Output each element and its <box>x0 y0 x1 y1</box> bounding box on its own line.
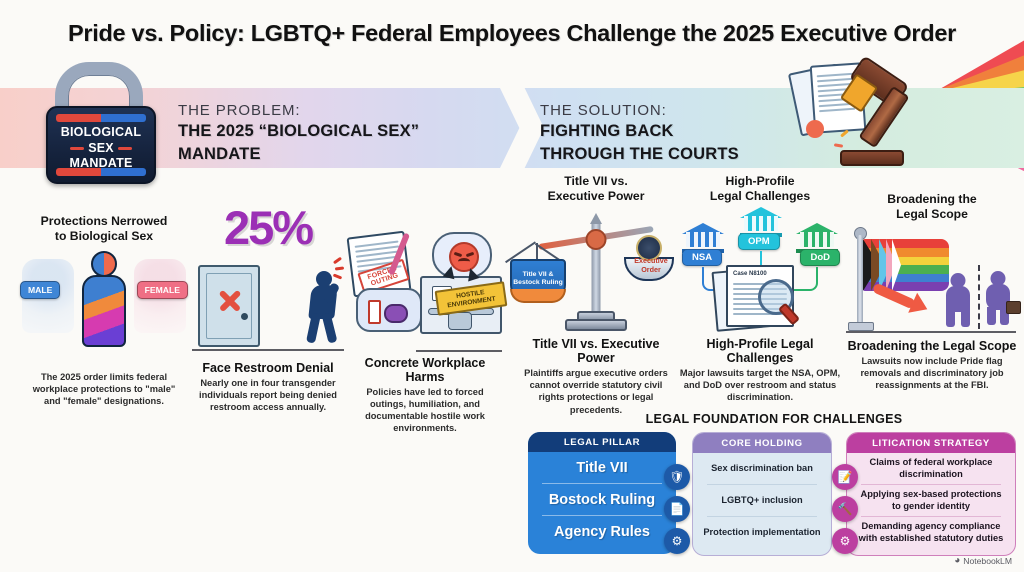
lock-stripe-top <box>56 114 146 122</box>
table-row: Bostock Ruling <box>528 484 676 515</box>
pride-flag-workplace-artwork <box>846 225 1018 335</box>
pig-icon <box>384 304 408 323</box>
leg-right <box>961 309 970 327</box>
agencies-lawsuits-artwork: NSA OPM DoD Case N8100 <box>676 207 844 333</box>
scale-finial <box>590 213 602 224</box>
door-icon <box>198 265 260 347</box>
gavel-icon: 🔨 <box>832 496 858 522</box>
person-body <box>82 275 126 347</box>
lock-label-line1: BIOLOGICAL <box>48 125 154 141</box>
col2-caption: Nearly one in four transgender individua… <box>192 377 344 413</box>
exclamation-card-icon <box>368 300 381 324</box>
eo-line2: Order <box>628 266 674 274</box>
table-column-legal-pillar: LEGAL PILLAR Title VII Bostock Ruling Ag… <box>528 432 676 554</box>
scale-base-bottom <box>565 319 627 331</box>
col3-caption: Policies have led to forced outings, hum… <box>344 386 506 434</box>
core-holding-header: CORE HOLDING <box>693 433 831 453</box>
column-restroom-denial: 25% Face Restroom Denial Nearly one in f… <box>192 204 344 413</box>
briefcase-icon <box>1006 301 1021 314</box>
person-leg-b <box>322 312 338 343</box>
scale-pivot <box>586 229 607 250</box>
infographic-canvas: Pride vs. Policy: LGBTQ+ Federal Employe… <box>0 0 1024 572</box>
separation-dashed-line <box>978 265 980 329</box>
col2-artwork <box>192 257 344 355</box>
distress-mark-1 <box>333 257 342 265</box>
gavel-papers-decoration <box>790 62 920 170</box>
notebooklm-logo-icon: ◕ <box>954 555 960 566</box>
biological-sex-mandate-lock-badge: BIOLOGICAL SEX MANDATE <box>46 62 152 180</box>
column-workplace-harms: FORCED OUTING HOSTILE ENVIRONMENT <box>344 228 506 434</box>
dod-pill: DoD <box>800 249 840 266</box>
page-title: Pride vs. Policy: LGBTQ+ Federal Employe… <box>0 20 1024 47</box>
dash-left <box>70 147 84 150</box>
table-row: LGBTQ+ inclusion <box>693 485 831 516</box>
document-edit-icon: 📝 <box>832 464 858 490</box>
col2-title: Face Restroom Denial <box>192 361 344 375</box>
humiliation-speech-bubble <box>356 288 422 332</box>
leg-left <box>987 307 996 325</box>
gradient-person-icon <box>82 251 126 343</box>
column-broadening-legal-scope: Broadening the Legal Scope <box>846 192 1018 392</box>
table-column-core-holding: CORE HOLDING Sex discrimination ban LGBT… <box>692 432 832 556</box>
table-row: Agency Rules <box>528 516 676 547</box>
person-head <box>91 251 117 277</box>
table-title: LEGAL FOUNDATION FOR CHALLENGES <box>528 412 1020 426</box>
floor-line <box>416 350 502 352</box>
col3-artwork: FORCED OUTING HOSTILE ENVIRONMENT <box>344 232 506 352</box>
watermark: ◕ NotebookLM <box>954 555 1012 566</box>
col5-heading-line2: Legal Challenges <box>676 189 844 204</box>
litigation-strategy-body: Claims of federal workplace discriminati… <box>847 453 1015 548</box>
col1-heading-line1: Protections Nerrowed <box>18 214 190 229</box>
banner-solution-block: THE SOLUTION: FIGHTING BACK THROUGH THE … <box>540 102 739 164</box>
col6-caption: Lawsuits now include Pride flag removals… <box>846 355 1018 391</box>
banner-problem-block: THE PROBLEM: THE 2025 “BIOLOGICAL SEX” M… <box>178 102 419 164</box>
col1-heading-line2: to Biological Sex <box>18 229 190 244</box>
col1-caption: The 2025 order limits federal workplace … <box>18 371 190 407</box>
scales-of-justice-icon: Title VII & Bestock Ruling Executive Ord… <box>516 207 676 333</box>
arrow-head-icon <box>908 293 932 320</box>
floor-line <box>192 349 344 351</box>
table-row: Protection implementation <box>693 517 831 548</box>
shield-icon: 🛡 <box>664 464 690 490</box>
floor-line <box>846 331 1016 333</box>
table-row: Claims of federal workplace discriminati… <box>847 453 1015 484</box>
table-row: Sex discrimination ban <box>693 453 831 484</box>
lock-body: BIOLOGICAL SEX MANDATE <box>46 106 156 184</box>
column-title7-vs-executive: Title VII vs. Executive Power Title VII … <box>516 174 676 416</box>
distress-mark-2 <box>335 266 344 270</box>
case-number-label: Case N8100 <box>733 271 767 277</box>
lock-label-line2: SEX <box>88 141 114 157</box>
lock-label: BIOLOGICAL SEX MANDATE <box>48 125 154 172</box>
col3-title: Concrete Workplace Harms <box>344 356 506 384</box>
gear-stamp-icon: ⚙ <box>664 528 690 554</box>
nsa-pill: NSA <box>682 249 722 266</box>
x-mark-icon <box>217 287 243 313</box>
lock-stripe-bottom <box>56 168 146 176</box>
litigation-strategy-header: LITICATION STRATEGY <box>847 433 1015 453</box>
solution-line1: FIGHTING BACK <box>540 121 739 142</box>
chair <box>448 312 472 330</box>
table-row: Applying sex-based protections to gender… <box>847 485 1015 516</box>
col5-title: High-Profile Legal Challenges <box>676 337 844 365</box>
executive-order-label: Executive Order <box>628 257 674 274</box>
column-high-profile-challenges: High-Profile Legal Challenges NSA OPM <box>676 174 844 404</box>
door-knob <box>241 313 248 320</box>
col6-heading-line2: Legal Scope <box>846 207 1018 222</box>
leg-left <box>946 309 955 327</box>
problem-line2: MANDATE <box>178 144 419 165</box>
col6-title: Broadening the Legal Scope <box>846 339 1018 353</box>
problem-eyebrow: THE PROBLEM: <box>178 102 419 119</box>
employee-female-icon <box>984 271 1012 325</box>
legal-pillar-body: Title VII Bostock Ruling Agency Rules <box>528 452 676 547</box>
document-icon: 📄 <box>664 496 690 522</box>
lock-label-line2-wrap: SEX <box>48 141 154 157</box>
restroom-stat: 25% <box>192 204 344 251</box>
problem-line1: THE 2025 “BIOLOGICAL SEX” <box>178 121 419 142</box>
col4-heading-line1: Title VII vs. <box>516 174 676 189</box>
legal-pillar-header: LEGAL PILLAR <box>528 432 676 452</box>
male-tag: MALE <box>20 281 60 299</box>
column-protections-narrowed: Protections Nerrowed to Biological Sex M… <box>18 214 190 408</box>
col5-caption: Major lawsuits target the NSA, OPM, and … <box>676 367 844 403</box>
dash-right <box>118 147 132 150</box>
distressed-person-icon <box>296 271 338 343</box>
employee-male-icon <box>944 273 972 327</box>
solution-eyebrow: THE SOLUTION: <box>540 102 739 119</box>
opm-pill: OPM <box>738 233 780 250</box>
table-row: Demanding agency compliance with establi… <box>847 517 1015 548</box>
flag-base <box>848 322 874 331</box>
table-column-litigation-strategy: LITICATION STRATEGY Claims of federal wo… <box>846 432 1016 556</box>
col4-caption: Plaintiffs argue executive orders cannot… <box>516 367 676 415</box>
table-row: Title VII <box>528 452 676 483</box>
dod-connector <box>790 267 818 291</box>
watermark-label: NotebookLM <box>963 556 1012 566</box>
col5-heading-line1: High-Profile <box>676 174 844 189</box>
gears-icon: ⚙ <box>832 528 858 554</box>
col4-heading-line2: Executive Power <box>516 189 676 204</box>
col1-artwork: MALE FEMALE <box>18 247 190 351</box>
female-tag: FEMALE <box>137 281 188 299</box>
col6-heading-line1: Broadening the <box>846 192 1018 207</box>
solution-line2: THROUGH THE COURTS <box>540 144 739 165</box>
col4-title: Title VII vs. Executive Power <box>516 337 676 365</box>
anger-thought-cloud <box>432 232 492 278</box>
core-holding-body: Sex discrimination ban LGBTQ+ inclusion … <box>693 453 831 548</box>
office-cubicle-icon: HOSTILE ENVIRONMENT <box>420 276 502 334</box>
left-pan-bottom <box>510 289 566 303</box>
